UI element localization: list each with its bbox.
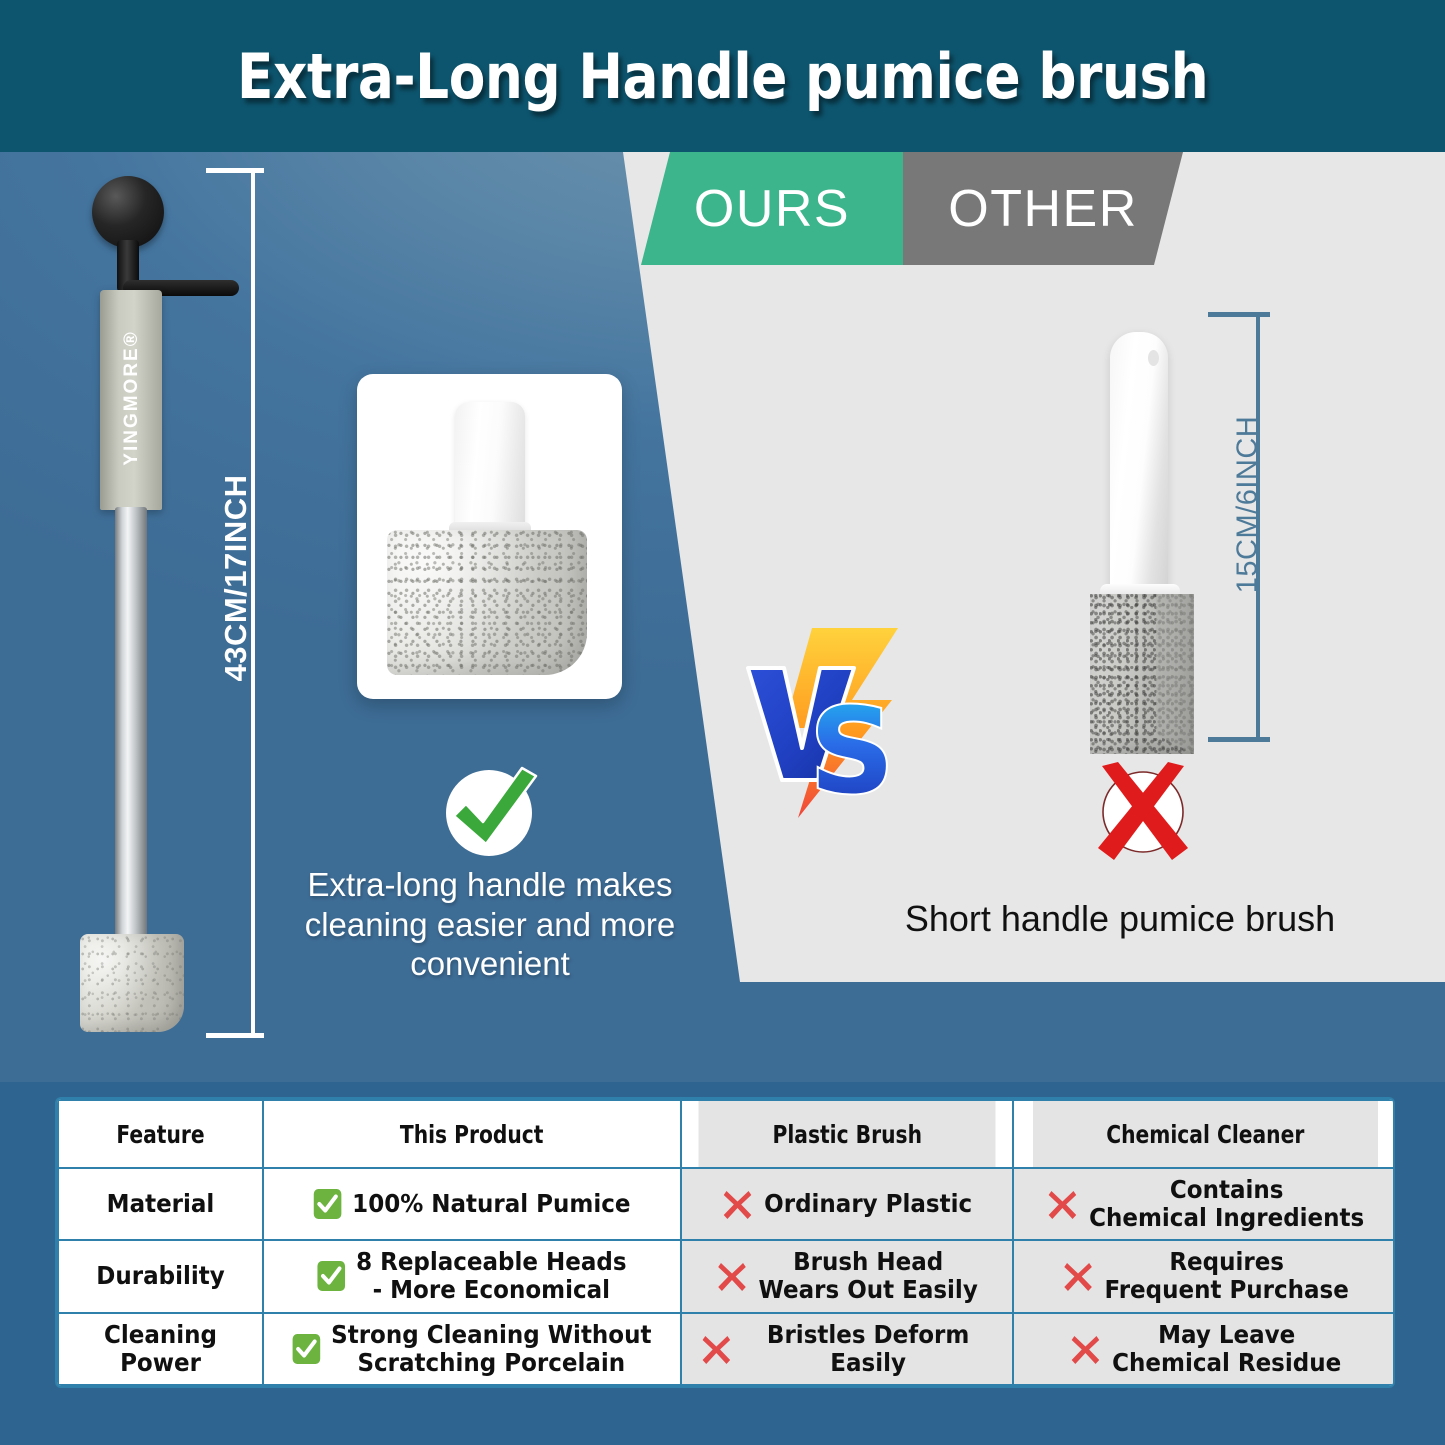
check-icon: [314, 1189, 342, 1219]
check-icon: [317, 1261, 345, 1291]
svg-text:S: S: [810, 682, 895, 820]
table-header-feature: Feature: [68, 1100, 253, 1168]
table-cell-plastic-brush: Ordinary Plastic: [681, 1168, 1013, 1240]
x-icon: [1062, 1259, 1093, 1293]
x-icon: [701, 1332, 732, 1366]
dimension-cap-bottom: [206, 1033, 264, 1038]
table-row: Material100% Natural PumiceOrdinary Plas…: [58, 1168, 1395, 1240]
x-icon: [1070, 1332, 1101, 1366]
header-banner: Extra-Long Handle pumice brush: [0, 0, 1445, 152]
table-row: Durability8 Replaceable Heads- More Econ…: [58, 1240, 1395, 1312]
cell-text: Brush HeadWears Out Easily: [758, 1248, 977, 1304]
cell-text: Material: [107, 1190, 215, 1218]
table-cell-plastic-brush: Brush HeadWears Out Easily: [681, 1240, 1013, 1312]
product-pumice-block: [387, 530, 587, 675]
other-caption: Short handle pumice brush: [830, 897, 1410, 940]
brush-knob: [92, 176, 164, 248]
table-header-chemical-cleaner: Chemical Cleaner: [1032, 1100, 1379, 1168]
cell-text: Cleaning Power: [73, 1321, 249, 1377]
table-cell-this-product: 100% Natural Pumice: [263, 1168, 681, 1240]
table-header-this-product: This Product: [284, 1100, 660, 1168]
comparison-table: Feature This Product Plastic Brush Chemi…: [55, 1097, 1395, 1388]
page-title: Extra-Long Handle pumice brush: [237, 40, 1208, 113]
cell-text: ContainsChemical Ingredients: [1089, 1176, 1364, 1232]
dimension-line-other: 15CM/6INCH: [1208, 312, 1303, 742]
dimension-label-ours: 43CM/17INCH: [218, 458, 254, 698]
short-brush-handle: [1110, 332, 1168, 594]
cell-text: May LeaveChemical Residue: [1112, 1321, 1341, 1377]
table-cell-this-product: Strong Cleaning WithoutScratching Porcel…: [263, 1313, 681, 1385]
brush-pumice-head: [80, 934, 184, 1032]
dimension-cap-top: [1208, 312, 1270, 317]
product-photo-card: [357, 374, 622, 699]
table-cell-chemical-cleaner: RequiresFrequent Purchase: [1013, 1240, 1395, 1312]
brush-grip: YINGMORE®: [100, 290, 162, 510]
table-header-row: Feature This Product Plastic Brush Chemi…: [58, 1100, 1395, 1168]
ours-caption: Extra-long handle makes cleaning easier …: [270, 865, 710, 984]
comparison-stage: OURS OTHER YINGMORE® 43CM/17INCH: [0, 152, 1445, 1082]
dimension-label-other: 15CM/6INCH: [1232, 395, 1265, 615]
brush-steel-rod: [115, 507, 147, 947]
cell-text: 100% Natural Pumice: [352, 1190, 630, 1218]
short-handle-brush-illustration: [1068, 332, 1218, 752]
table-row: Cleaning PowerStrong Cleaning WithoutScr…: [58, 1313, 1395, 1385]
table-cell-feature: Cleaning Power: [58, 1313, 263, 1385]
x-icon: [722, 1187, 753, 1221]
x-icon: [716, 1259, 747, 1293]
table-cell-feature: Durability: [58, 1240, 263, 1312]
dimension-cap-top: [206, 168, 264, 173]
cell-text: Ordinary Plastic: [764, 1190, 972, 1218]
product-head-cap: [455, 402, 525, 532]
check-icon: [293, 1334, 321, 1364]
ribbon-other: OTHER: [903, 152, 1183, 265]
cell-text: Bristles Deform Easily: [743, 1321, 993, 1377]
cell-text: Durability: [96, 1262, 224, 1290]
table-cell-feature: Material: [58, 1168, 263, 1240]
cell-text: Strong Cleaning WithoutScratching Porcel…: [331, 1321, 651, 1377]
red-x-icon: [1088, 760, 1198, 865]
ribbon-ours: OURS: [641, 152, 903, 265]
green-check-icon: [436, 760, 542, 866]
table-cell-chemical-cleaner: May LeaveChemical Residue: [1013, 1313, 1395, 1385]
cell-text: RequiresFrequent Purchase: [1104, 1248, 1348, 1304]
x-icon: [1047, 1187, 1078, 1221]
infographic-page: Extra-Long Handle pumice brush OURS OTHE…: [0, 0, 1445, 1445]
table-cell-chemical-cleaner: ContainsChemical Ingredients: [1013, 1168, 1395, 1240]
brand-label: YINGMORE®: [121, 303, 143, 493]
cell-text: 8 Replaceable Heads- More Economical: [356, 1248, 626, 1304]
vs-badge: S: [740, 620, 920, 825]
table-header-plastic-brush: Plastic Brush: [698, 1100, 997, 1168]
table-cell-this-product: 8 Replaceable Heads- More Economical: [263, 1240, 681, 1312]
short-brush-pumice-edge: [1156, 594, 1194, 754]
table-cell-plastic-brush: Bristles Deform Easily: [681, 1313, 1013, 1385]
dimension-cap-bottom: [1208, 737, 1270, 742]
